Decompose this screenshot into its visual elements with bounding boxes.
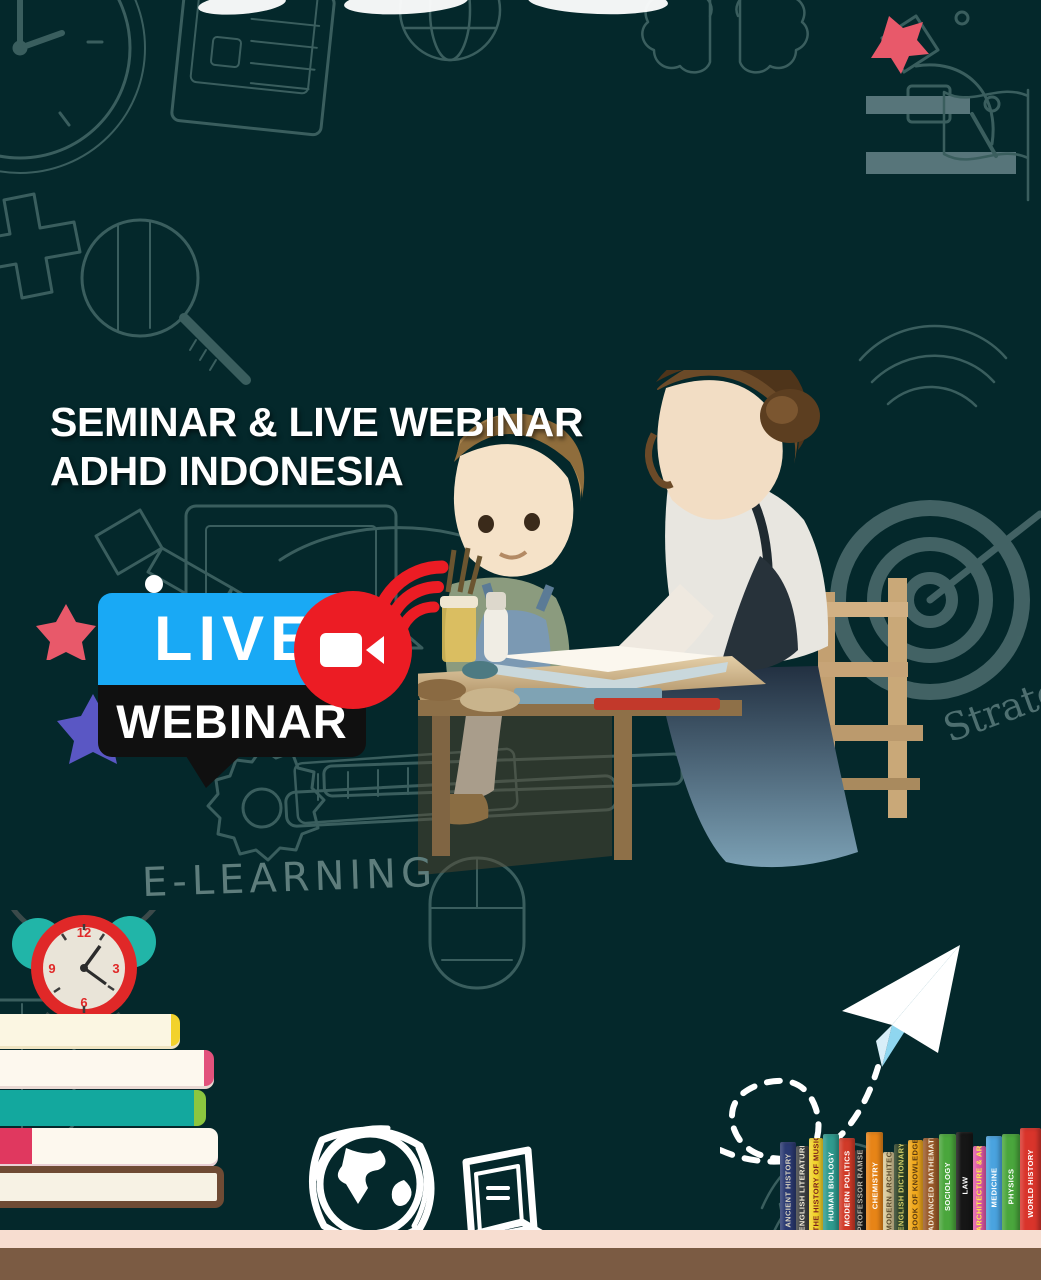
book-spine: Book of Knowledge [908, 1140, 924, 1238]
book-spine: Medicine [986, 1136, 1003, 1238]
shelf-front-panel [0, 1248, 1041, 1280]
stacked-book-pink [0, 1050, 214, 1086]
book-spine-title: Physics [1006, 1168, 1015, 1204]
book-spine-title: Sociology [943, 1161, 952, 1210]
stacked-book-teal [0, 1090, 206, 1126]
chalk-smudge [197, 0, 668, 18]
brain-doodle-icon [642, 0, 807, 72]
stacked-books [0, 993, 252, 1238]
book-spine-title: The History of Music [812, 1145, 821, 1231]
book-spine: English Literature [796, 1146, 810, 1238]
shelf-ledge [0, 1230, 1041, 1280]
stacked-book-yellow [0, 1014, 180, 1046]
svg-text:9: 9 [48, 961, 55, 976]
book-spine: Ancient History [780, 1142, 796, 1238]
book-spine-title: Professor Ramsey [856, 1157, 865, 1231]
camera-circle [294, 591, 412, 709]
book-spine: English Dictionary [894, 1144, 908, 1238]
book-spine-title: Advanced Mathematics [926, 1145, 935, 1231]
clipboard-doodle-icon [171, 0, 335, 135]
microscope-doodle-icon [866, 12, 1016, 174]
book-spine-title: Human Biology [827, 1151, 836, 1221]
video-camera-icon [320, 629, 386, 671]
poster-canvas: SEMINAR & LIVE WEBINAR ADHD INDONESIA LI… [0, 0, 1041, 1280]
book-spine: World History [1020, 1128, 1041, 1238]
speech-bubble-tail [186, 756, 240, 788]
book-spine: Chemistry [866, 1132, 884, 1238]
stacked-book-brown [0, 1166, 224, 1208]
webinar-label: WEBINAR [116, 698, 348, 745]
book-spine-title: Modern Politics [843, 1150, 852, 1226]
clock-doodle-icon [0, 0, 145, 173]
book-spine: Modern Architecture [883, 1152, 894, 1238]
book-spine: Architecture & Art [973, 1146, 986, 1238]
bookshelf-row: Ancient HistoryEnglish LiteratureThe His… [780, 1128, 1041, 1238]
book-spine-title: English Literature [798, 1153, 807, 1231]
book-spine: Law [956, 1132, 973, 1238]
book-spine: Advanced Mathematics [923, 1138, 939, 1238]
book-spine-title: Chemistry [870, 1161, 879, 1209]
page-title: SEMINAR & LIVE WEBINAR ADHD INDONESIA [50, 398, 690, 496]
book-spine-title: English Dictionary [896, 1151, 905, 1231]
stacked-book-red [0, 1128, 218, 1164]
globe-doodle-icon [400, 0, 500, 60]
book-spine: Human Biology [823, 1134, 840, 1238]
book-spine-title: World History [1026, 1149, 1035, 1218]
chalk-word-elearning: E-LEARNING [141, 850, 437, 906]
book-spine: The History of Music [809, 1138, 823, 1238]
book-spine: Professor Ramsey [855, 1150, 866, 1238]
book-spine-title: Law [960, 1176, 969, 1194]
book-spine: Physics [1002, 1134, 1020, 1238]
shelf-surface [0, 1230, 1041, 1248]
svg-text:3: 3 [112, 961, 119, 976]
book-spine: Modern Politics [839, 1138, 855, 1238]
book-spine-title: Architecture & Art [975, 1153, 984, 1231]
magnifier-doodle-icon [82, 220, 246, 380]
live-label: LIVE [146, 608, 318, 671]
red-star-icon [36, 600, 96, 660]
book-spine-title: Ancient History [783, 1153, 792, 1227]
flag-doodle-icon [944, 90, 1028, 200]
book-spine-title: Modern Architecture [884, 1159, 893, 1231]
book-spine-title: Book of Knowledge [911, 1147, 920, 1231]
plus-doodle-icon [0, 194, 80, 298]
book-spine-title: Medicine [989, 1167, 998, 1207]
red-star-decor [871, 16, 929, 74]
live-webinar-badge: LIVE WEBINAR [98, 565, 438, 780]
book-spine: Sociology [939, 1134, 957, 1238]
